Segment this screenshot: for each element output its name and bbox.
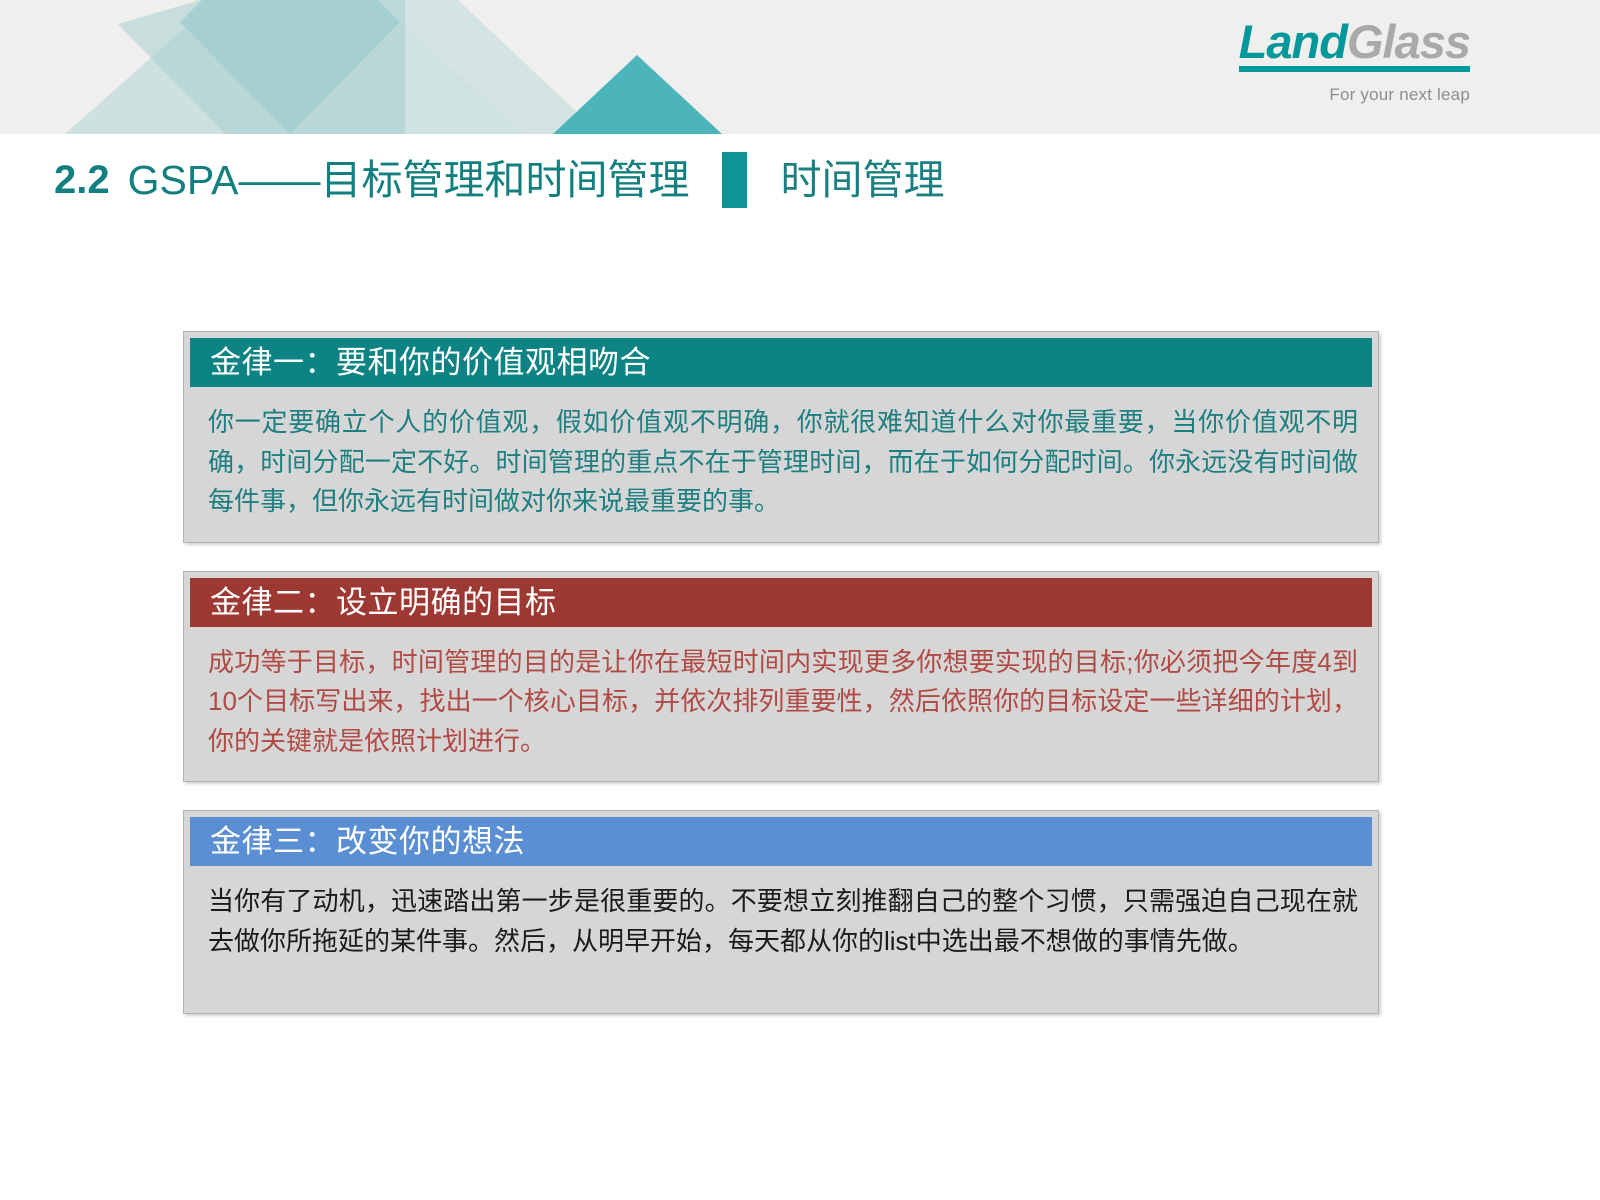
- law-card-1-title: 金律一：要和你的价值观相吻合: [210, 347, 651, 378]
- page-title: GSPA——目标管理和时间管理: [128, 160, 690, 201]
- law-card-1-text: 你一定要确立个人的价值观，假如价值观不明确，你就很难知道什么对你最重要，当你价值…: [208, 403, 1358, 522]
- law-card-2-header: 金律二：设立明确的目标: [190, 578, 1372, 627]
- solid-teal-triangle: [553, 55, 722, 134]
- section-number: 2.2: [54, 160, 110, 200]
- page-subtitle: 时间管理: [781, 160, 945, 201]
- law-card-1-header: 金律一：要和你的价值观相吻合: [190, 338, 1372, 387]
- laws-list: 金律一：要和你的价值观相吻合 你一定要确立个人的价值观，假如价值观不明确，你就很…: [183, 331, 1379, 1042]
- law-card-3-title: 金律三：改变你的想法: [210, 826, 525, 857]
- law-card-2-text: 成功等于目标，时间管理的目的是让你在最短时间内实现更多你想要实现的目标;你必须把…: [208, 643, 1358, 762]
- law-card-3-text: 当你有了动机，迅速踏出第一步是很重要的。不要想立刻推翻自己的整个习惯，只需强迫自…: [208, 882, 1358, 961]
- brand-logo: LandGlass For your next leap: [1150, 18, 1470, 105]
- law-card-3-header: 金律三：改变你的想法: [190, 817, 1372, 866]
- law-card-2: 金律二：设立明确的目标 成功等于目标，时间管理的目的是让你在最短时间内实现更多你…: [183, 571, 1379, 783]
- law-card-1: 金律一：要和你的价值观相吻合 你一定要确立个人的价值观，假如价值观不明确，你就很…: [183, 331, 1379, 543]
- law-card-2-body: 成功等于目标，时间管理的目的是让你在最短时间内实现更多你想要实现的目标;你必须把…: [190, 627, 1372, 776]
- slide-title: 2.2 GSPA——目标管理和时间管理 时间管理: [54, 147, 945, 213]
- logo-glass-text: Glass: [1347, 15, 1470, 68]
- law-card-1-body: 你一定要确立个人的价值观，假如价值观不明确，你就很难知道什么对你最重要，当你价值…: [190, 387, 1372, 536]
- law-card-3-body: 当你有了动机，迅速踏出第一步是很重要的。不要想立刻推翻自己的整个习惯，只需强迫自…: [190, 866, 1372, 1007]
- law-card-2-title: 金律二：设立明确的目标: [210, 587, 557, 618]
- title-separator-bar: [722, 152, 747, 208]
- logo-wordmark: LandGlass: [1239, 18, 1470, 72]
- law-card-3: 金律三：改变你的想法 当你有了动机，迅速踏出第一步是很重要的。不要想立刻推翻自己…: [183, 810, 1379, 1014]
- logo-land-text: Land: [1239, 15, 1347, 68]
- logo-tagline: For your next leap: [1150, 85, 1470, 105]
